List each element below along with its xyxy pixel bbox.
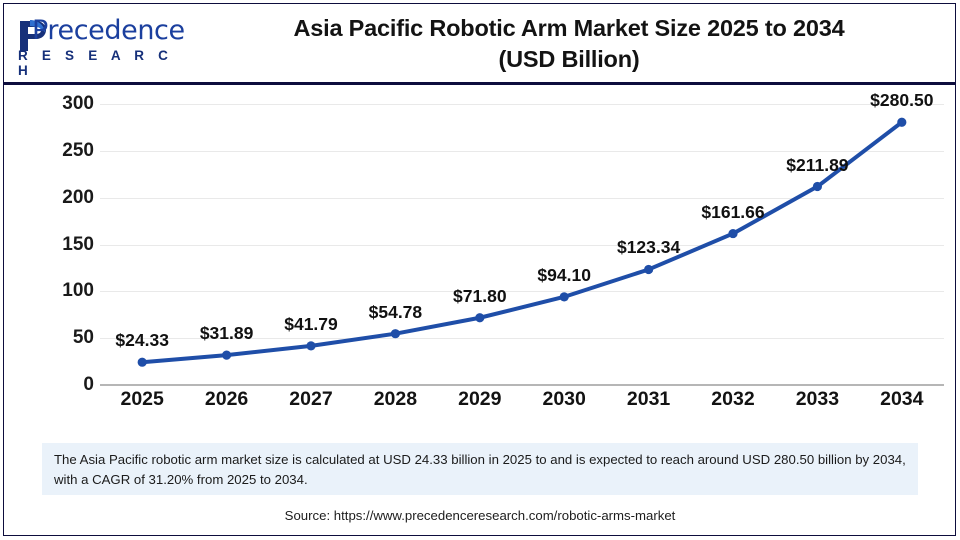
x-axis-tick-label: 2030 [542,388,585,411]
data-point-marker [475,313,484,322]
x-axis-tick-label: 2028 [374,388,417,411]
summary-text: The Asia Pacific robotic arm market size… [54,450,906,490]
page-title: Asia Pacific Robotic Arm Market Size 202… [194,13,944,75]
data-point-marker [138,358,147,367]
plot-area: $24.33$31.89$41.79$54.78$71.80$94.10$123… [100,104,944,385]
x-axis-tick-label: 2033 [796,388,839,411]
data-point-label: $280.50 [870,90,933,111]
logo-subtitle: R E S E A R C H [18,48,176,78]
x-axis-tick-label: 2025 [120,388,163,411]
x-axis-tick-label: 2031 [627,388,670,411]
x-axis: 2025202620272028202920302031203220332034 [100,388,944,418]
y-axis: 300250200150100500 [24,104,94,385]
y-axis-tick-label: 250 [34,140,94,162]
data-point-label: $123.34 [617,237,680,258]
x-axis-tick-label: 2032 [711,388,754,411]
data-point-label: $94.10 [537,265,591,286]
header: Precedence R E S E A R C H Asia Pacific … [4,4,955,83]
data-point-marker [897,118,906,127]
title-line-1: Asia Pacific Robotic Arm Market Size 202… [194,13,944,44]
y-axis-tick-label: 300 [34,93,94,115]
summary-callout: The Asia Pacific robotic arm market size… [42,443,918,495]
data-point-label: $161.66 [701,202,764,223]
data-point-label: $211.89 [786,155,848,176]
x-axis-tick-label: 2026 [205,388,248,411]
source-line: Source: https://www.precedenceresearch.c… [0,508,960,523]
y-axis-tick-label: 0 [34,374,94,396]
title-line-2: (USD Billion) [194,44,944,75]
x-axis-tick-label: 2034 [880,388,923,411]
data-point-marker [222,351,231,360]
x-axis-tick-label: 2027 [289,388,332,411]
precedence-research-logo: Precedence R E S E A R C H [16,12,176,70]
data-point-marker [644,265,653,274]
y-axis-tick-label: 50 [34,327,94,349]
data-point-label: $31.89 [200,323,254,344]
data-point-marker [560,292,569,301]
x-axis-tick-label: 2029 [458,388,501,411]
data-point-marker [813,182,822,191]
data-point-label: $54.78 [369,302,423,323]
y-axis-tick-label: 200 [34,187,94,209]
chart-page: Precedence R E S E A R C H Asia Pacific … [0,0,960,540]
data-point-marker [306,341,315,350]
data-point-marker [391,329,400,338]
header-divider [4,82,956,85]
line-chart: 300250200150100500 $24.33$31.89$41.79$54… [4,86,955,422]
data-point-label: $24.33 [115,330,169,351]
logo-wordmark: Precedence [32,15,185,46]
y-axis-tick-label: 100 [34,280,94,302]
data-point-label: $41.79 [284,314,338,335]
data-point-label: $71.80 [453,286,507,307]
data-point-marker [728,229,737,238]
y-axis-tick-label: 150 [34,234,94,256]
